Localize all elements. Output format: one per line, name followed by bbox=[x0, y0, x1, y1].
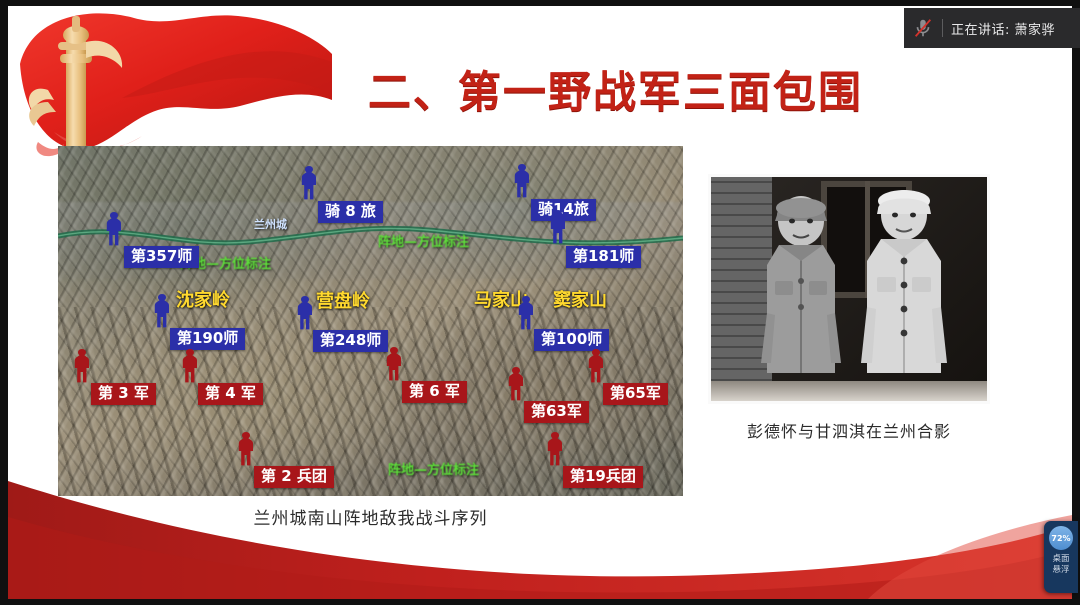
speaker-label: 正在讲话: 萧家骅 bbox=[951, 19, 1055, 38]
pla-unit-label-3: 第63军 bbox=[524, 401, 589, 423]
microphone-muted-icon[interactable] bbox=[912, 17, 934, 39]
divider bbox=[942, 19, 943, 37]
enemy-soldier-icon-1 bbox=[514, 164, 530, 198]
enemy-soldier-icon-4 bbox=[154, 294, 170, 328]
slide-title: 二、第一野战军三面包围 bbox=[368, 58, 908, 120]
enemy-unit-label-0: 骑 8 旅 bbox=[318, 201, 383, 223]
pla-unit-label-0: 第 3 军 bbox=[91, 383, 156, 405]
speaker-status-bar: 正在讲话: 萧家骅 bbox=[904, 8, 1080, 48]
map-city-label: 兰州城 bbox=[254, 219, 287, 230]
officer-left bbox=[755, 195, 847, 383]
officer-right bbox=[857, 187, 951, 383]
pla-unit-label-6: 第19兵团 bbox=[563, 466, 643, 488]
enemy-soldier-icon-3 bbox=[550, 210, 566, 244]
map-green-note-1: 阵地—方位标注 bbox=[378, 236, 469, 249]
battle-map-image: 阵地—方位标注阵地—方位标注阵地—方位标注沈家岭营盘岭马家山窦家山兰州城骑 8 … bbox=[58, 146, 683, 496]
historical-photo bbox=[708, 174, 990, 404]
photo-figure: 彭德怀与甘泗淇在兰州合影 bbox=[708, 174, 990, 442]
float-widget-line2: 悬浮 bbox=[1052, 565, 1069, 575]
float-widget-line1: 桌面 bbox=[1052, 554, 1069, 564]
float-widget-label: 桌面 悬浮 bbox=[1052, 554, 1069, 576]
enemy-unit-label-5: 第248师 bbox=[313, 330, 388, 352]
enemy-unit-label-4: 第190师 bbox=[170, 328, 245, 350]
photo-ground bbox=[711, 381, 987, 401]
map-green-note-2: 阵地—方位标注 bbox=[388, 464, 479, 477]
pla-soldier-icon-2 bbox=[386, 347, 402, 381]
pla-unit-label-1: 第 4 军 bbox=[198, 383, 263, 405]
presentation-slide: 二、第一野战军三面包围 阵地—方位标注阵地—方位标注阵地—方位标注沈家岭营盘岭马… bbox=[8, 6, 1072, 599]
enemy-unit-label-6: 第100师 bbox=[534, 329, 609, 351]
pla-unit-label-2: 第 6 军 bbox=[402, 381, 467, 403]
pla-soldier-icon-6 bbox=[547, 432, 563, 466]
map-place-label-1: 营盘岭 bbox=[316, 293, 370, 311]
pla-unit-label-5: 第 2 兵团 bbox=[254, 466, 334, 488]
map-place-label-0: 沈家岭 bbox=[176, 292, 230, 310]
pla-soldier-icon-0 bbox=[74, 349, 90, 383]
enemy-unit-label-2: 第357师 bbox=[124, 246, 199, 268]
enemy-soldier-icon-0 bbox=[301, 166, 317, 200]
pla-soldier-icon-5 bbox=[238, 432, 254, 466]
map-caption: 兰州城南山阵地敌我战斗序列 bbox=[58, 504, 683, 529]
enemy-soldier-icon-5 bbox=[297, 296, 313, 330]
map-figure: 阵地—方位标注阵地—方位标注阵地—方位标注沈家岭营盘岭马家山窦家山兰州城骑 8 … bbox=[58, 146, 683, 529]
photo-caption: 彭德怀与甘泗淇在兰州合影 bbox=[708, 418, 990, 442]
map-place-label-3: 窦家山 bbox=[553, 292, 607, 310]
pla-soldier-icon-3 bbox=[508, 367, 524, 401]
pla-soldier-icon-1 bbox=[182, 349, 198, 383]
enemy-unit-label-3: 第181师 bbox=[566, 246, 641, 268]
pla-unit-label-4: 第65军 bbox=[603, 383, 668, 405]
screen-background: 二、第一野战军三面包围 阵地—方位标注阵地—方位标注阵地—方位标注沈家岭营盘岭马… bbox=[0, 0, 1080, 605]
battery-percent-badge: 72% bbox=[1049, 526, 1073, 550]
desktop-float-widget[interactable]: 72% 桌面 悬浮 bbox=[1044, 521, 1078, 593]
pla-soldier-icon-4 bbox=[588, 349, 604, 383]
enemy-soldier-icon-6 bbox=[518, 296, 534, 330]
enemy-soldier-icon-2 bbox=[106, 212, 122, 246]
